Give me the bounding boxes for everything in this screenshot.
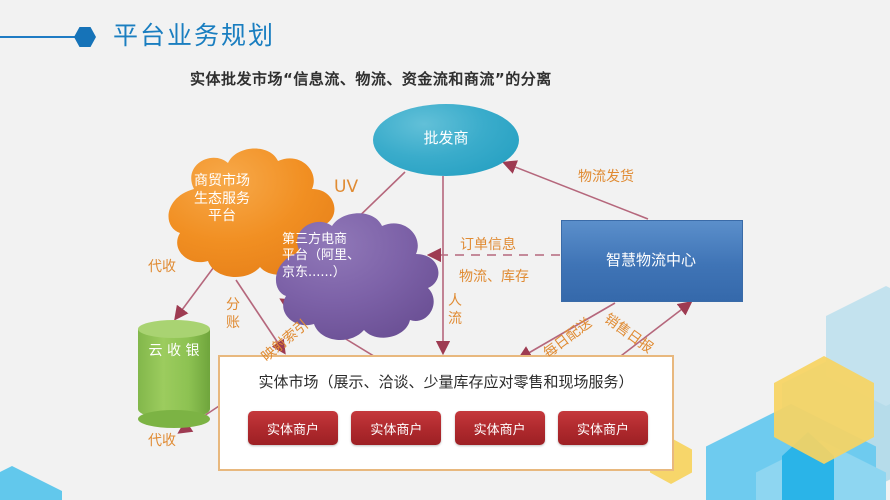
merchant-list: 实体商户 实体商户 实体商户 实体商户 xyxy=(248,411,648,445)
node-ecosystem-cloud-label: 商贸市场 生态服务 平台 xyxy=(164,173,280,226)
edge-label-collect-upper: 代收 xyxy=(148,258,176,276)
merchant-button[interactable]: 实体商户 xyxy=(248,411,338,445)
node-cloud-cashier-label: 云 收 银 xyxy=(138,342,210,361)
merchant-button[interactable]: 实体商户 xyxy=(351,411,441,445)
edge-label-collect-lower: 代收 xyxy=(148,432,176,450)
cylinder-top xyxy=(138,320,210,338)
node-wholesaler-label: 批发商 xyxy=(373,129,519,148)
edge-label-logistics-stock: 物流、库存 xyxy=(459,268,529,286)
merchant-button[interactable]: 实体商户 xyxy=(455,411,545,445)
slide-canvas: 平台业务规划 实体批发市场“信息流、物流、资金流和商流”的分离 xyxy=(0,0,890,500)
cylinder-bottom xyxy=(138,410,210,428)
market-panel: 实体市场（展示、洽谈、少量库存应对零售和现场服务） 实体商户 实体商户 实体商户… xyxy=(218,355,674,471)
market-panel-title: 实体市场（展示、洽谈、少量库存应对零售和现场服务） xyxy=(220,371,672,392)
node-cloud-cashier: 云 收 银 xyxy=(138,320,210,428)
edge-label-uv: UV xyxy=(334,176,358,198)
edge-label-order-info: 订单信息 xyxy=(460,236,516,254)
edge-label-people-flow: 人 流 xyxy=(448,292,462,328)
edge-label-logistics-ship: 物流发货 xyxy=(578,168,634,186)
merchant-button[interactable]: 实体商户 xyxy=(558,411,648,445)
edge-label-split-account: 分 账 xyxy=(226,296,240,332)
node-third-party-cloud-label: 第三方电商 平台（阿里、 京东......） xyxy=(282,232,406,281)
node-logistics-center-label: 智慧物流中心 xyxy=(561,251,741,270)
